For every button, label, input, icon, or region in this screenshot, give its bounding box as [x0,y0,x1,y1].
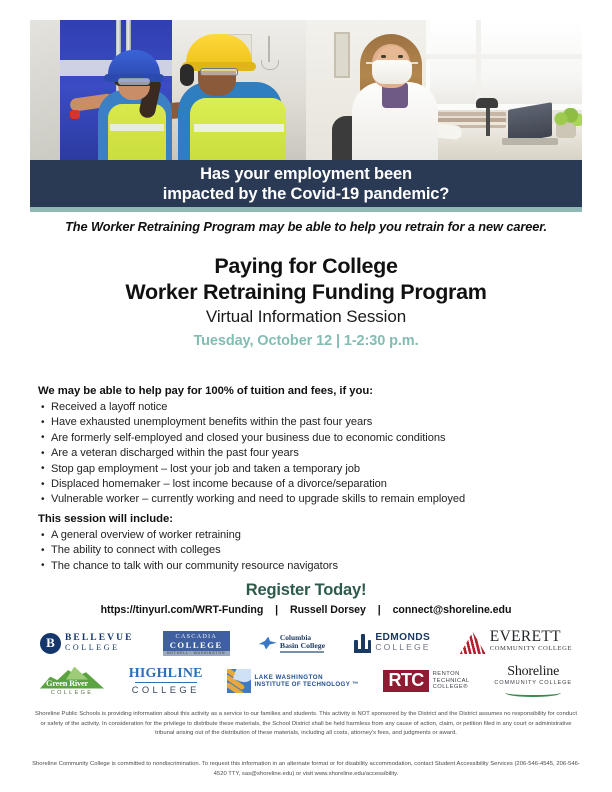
shoreline-wordmark-line-1: Shoreline [507,665,559,679]
eligibility-list: Received a layoff notice Have exhausted … [38,400,568,508]
list-item: Vulnerable worker – currently working an… [38,492,568,507]
flyer-page: Has your employment been impacted by the… [0,0,612,792]
edmonds-wordmark-line-2: COLLEGE [375,643,430,653]
photo-window-mullion-horizontal [424,54,582,59]
columbia-basin-bird-icon [259,637,277,650]
session-heading: This session will include: [38,512,568,527]
rtc-monogram: RTC [383,670,428,692]
title-block: Paying for College Worker Retraining Fun… [30,254,582,351]
photo-desk-lamp-head [476,98,498,108]
logo-row-1: B BELLEVUE COLLEGE CASCADIA COLLEGE BOTH… [34,624,578,662]
contact-person-name: Russell Dorsey [290,604,366,616]
logo-green-river-college: Green River COLLEGE [40,664,104,698]
partner-college-logos: B BELLEVUE COLLEGE CASCADIA COLLEGE BOTH… [34,624,578,700]
columbia-underline [280,651,324,652]
columbia-wordmark-line-2: Basin College [280,642,325,650]
photo-desk-lamp-arm [486,104,490,136]
photo-construction-workers [30,20,306,160]
logo-row-2: Green River COLLEGE HIGHLINE COLLEGE LAK… [34,662,578,700]
contact-line: https://tinyurl.com/WRT-Funding | Russel… [30,603,582,617]
cascadia-location-bar: BOTHELL · WASHINGTON [163,651,230,656]
nondiscrimination-notice: Shoreline Community College is committed… [32,760,580,779]
green-river-mountain-icon: Green River [40,667,104,689]
photo-laptop-base [502,138,558,145]
photo-worker1-bracelet [70,110,80,119]
session-datetime: Tuesday, October 12 | 1-2:30 p.m. [30,332,582,351]
cascadia-wordmark-line-3: BOTHELL · WASHINGTON [167,651,225,655]
list-item: Stop gap employment – lost your job and … [38,462,568,477]
photo-face-mask [372,60,412,84]
cascadia-wordmark-line-1: CASCADIA [170,633,223,640]
eligibility-heading: We may be able to help pay for 100% of t… [38,384,568,399]
logo-bellevue-college: B BELLEVUE COLLEGE [40,626,134,660]
contact-separator-1: | [266,604,287,616]
hero-image-pair [30,20,582,160]
banner-line-1: Has your employment been [200,164,412,184]
banner-line-2: impacted by the Covid-19 pandemic? [163,184,449,204]
list-item: Have exhausted unemployment benefits wit… [38,415,568,430]
lwtech-wheat-icon [227,669,251,693]
lwtech-wordmark-line-2: INSTITUTE OF TECHNOLOGY ™ [254,681,358,688]
logo-columbia-basin-college: Columbia Basin College [259,626,325,660]
highline-wordmark-line-1: HIGHLINE [129,667,203,681]
list-item: Are a veteran discharged within the past… [38,446,568,461]
photo-plant-foliage [552,108,582,126]
lwtech-wordmark-line-1: LAKE WASHINGTON [254,674,358,681]
banner-accent-rule [30,207,582,212]
photo-worker1-vest-stripe [110,124,164,131]
green-river-wordmark-line-2: COLLEGE [51,690,94,696]
logo-shoreline-community-college: Shoreline COMMUNITY COLLEGE [494,664,572,698]
bellevue-seal-icon: B [40,633,61,654]
logo-everett-community-college: EVERETT COMMUNITY COLLEGE [460,626,572,660]
logo-renton-technical-college: RTC RENTON TECHNICAL COLLEGE® [383,664,469,698]
photo-worker1-vest [108,104,166,160]
page-title-line-2: Worker Retraining Funding Program [30,279,582,305]
page-title-line-1: Paying for College [30,254,582,279]
shoreline-wordmark-line-2: COMMUNITY COLLEGE [494,680,572,686]
contact-email[interactable]: connect@shoreline.edu [393,604,512,616]
photo-person-eyes [381,55,403,58]
register-headline: Register Today! [30,580,582,600]
list-item: A general overview of worker retraining [38,528,568,543]
logo-cascadia-college: CASCADIA COLLEGE BOTHELL · WASHINGTON [163,626,230,660]
photo-worker2-safety-glasses [200,68,238,76]
contact-separator-2: | [369,604,390,616]
everett-mountain-icon [460,632,486,654]
registration-url[interactable]: https://tinyurl.com/WRT-Funding [101,604,264,616]
session-list: A general overview of worker retraining … [38,528,568,574]
rtc-wordmark-line-1: RENTON [433,671,470,678]
photo-worker1-safety-glasses [118,78,150,85]
list-item: The chance to talk with our community re… [38,559,568,574]
list-item: Received a layoff notice [38,400,568,415]
everett-wordmark-line-1: EVERETT [490,631,572,643]
headline-banner: Has your employment been impacted by the… [30,160,582,207]
rtc-wordmark-line-3: COLLEGE® [433,684,470,691]
photo-worker2-ear-protection [180,64,194,86]
highline-divider [135,682,197,683]
logo-edmonds-college: EDMONDS COLLEGE [354,626,430,660]
photo-window-mullion-vertical [476,20,481,110]
green-river-wordmark-line-1: Green River [46,679,88,688]
bellevue-wordmark-line-2: COLLEGE [65,643,134,653]
edmonds-trident-icon [354,634,371,653]
photo-wall-hook [268,36,270,62]
list-item: Are formerly self-employed and closed yo… [38,431,568,446]
district-disclaimer: Shoreline Public Schools is providing in… [32,710,580,739]
tagline: The Worker Retraining Program may be abl… [30,219,582,234]
photo-wall-picture [334,32,350,78]
highline-wordmark-line-2: COLLEGE [132,684,200,695]
cascadia-wordmark-line-2: COLLEGE [170,640,223,650]
list-item: Displaced homemaker – lost income becaus… [38,477,568,492]
session-contents-section: This session will include: A general ove… [38,512,568,574]
everett-wordmark-line-2: COMMUNITY COLLEGE [490,643,572,655]
photo-worker2-vest-stripe [194,124,284,132]
logo-highline-college: HIGHLINE COLLEGE [129,664,203,698]
list-item: The ability to connect with colleges [38,543,568,558]
logo-lake-washington-institute-of-technology: LAKE WASHINGTON INSTITUTE OF TECHNOLOGY … [227,664,358,698]
photo-window [424,20,582,110]
bellevue-wordmark-line-1: BELLEVUE [65,634,134,644]
shoreline-swoosh-icon [505,688,561,697]
eligibility-section: We may be able to help pay for 100% of t… [38,384,568,508]
photo-masked-professional [306,20,582,160]
page-subtitle: Virtual Information Session [30,305,582,329]
